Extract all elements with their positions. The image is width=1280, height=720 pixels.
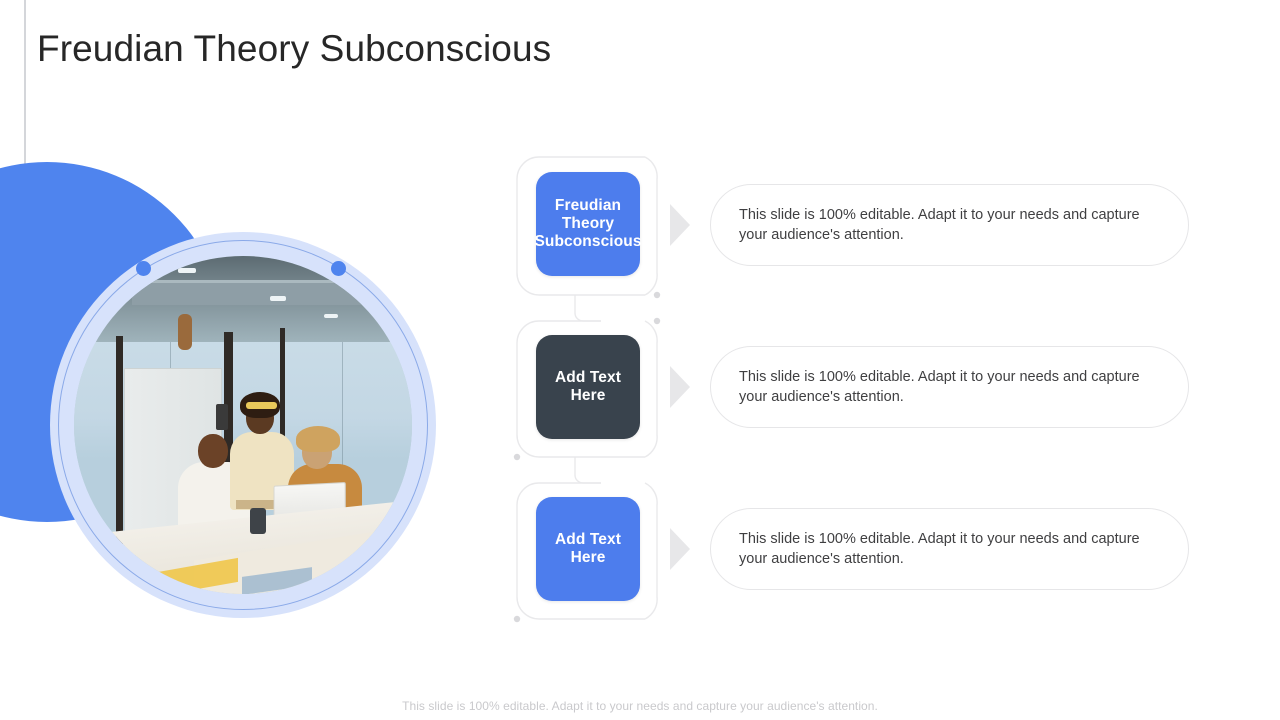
photo-ceiling-light [178, 268, 196, 273]
arrow-right-icon-1 [670, 204, 690, 246]
photo-ceiling-light [270, 296, 286, 301]
arrow-right-icon-2 [670, 366, 690, 408]
step-card-2[interactable]: Add Text Here [536, 335, 640, 439]
photo-person-hair [296, 426, 340, 452]
page-title: Freudian Theory Subconscious [37, 26, 551, 72]
step-description-3-text: This slide is 100% editable. Adapt it to… [711, 529, 1188, 569]
photo-ceiling-duct [132, 280, 382, 305]
step-description-2-text: This slide is 100% editable. Adapt it to… [711, 367, 1188, 407]
photo-hanging-plant [178, 314, 192, 350]
step-card-3-label: Add Text Here [540, 531, 636, 567]
arrow-right-icon-3 [670, 528, 690, 570]
photo-window-mullion [280, 328, 285, 448]
step-card-2-label: Add Text Here [540, 369, 636, 405]
step-card-1-label: Freudian Theory Subconscious [534, 197, 641, 251]
photo-person-head [198, 434, 228, 468]
step-description-1-text: This slide is 100% editable. Adapt it to… [711, 205, 1188, 245]
step-card-3[interactable]: Add Text Here [536, 497, 640, 601]
ring-dot-right [331, 261, 346, 276]
photo-person-headband [246, 402, 277, 409]
photo-wall-panel [216, 404, 228, 430]
step-description-2[interactable]: This slide is 100% editable. Adapt it to… [710, 346, 1189, 428]
step-description-3[interactable]: This slide is 100% editable. Adapt it to… [710, 508, 1189, 590]
photo-window-mullion [116, 336, 123, 556]
office-photo [74, 256, 412, 594]
step-card-1[interactable]: Freudian Theory Subconscious [536, 172, 640, 276]
photo-pen-cup [250, 508, 266, 534]
photo-ceiling-light [324, 314, 338, 318]
step-description-1[interactable]: This slide is 100% editable. Adapt it to… [710, 184, 1189, 266]
slide-canvas: Freudian Theory Subconscious [0, 0, 1280, 720]
photo-composition [50, 232, 436, 618]
ring-dot-left [136, 261, 151, 276]
footer-note: This slide is 100% editable. Adapt it to… [0, 699, 1280, 713]
